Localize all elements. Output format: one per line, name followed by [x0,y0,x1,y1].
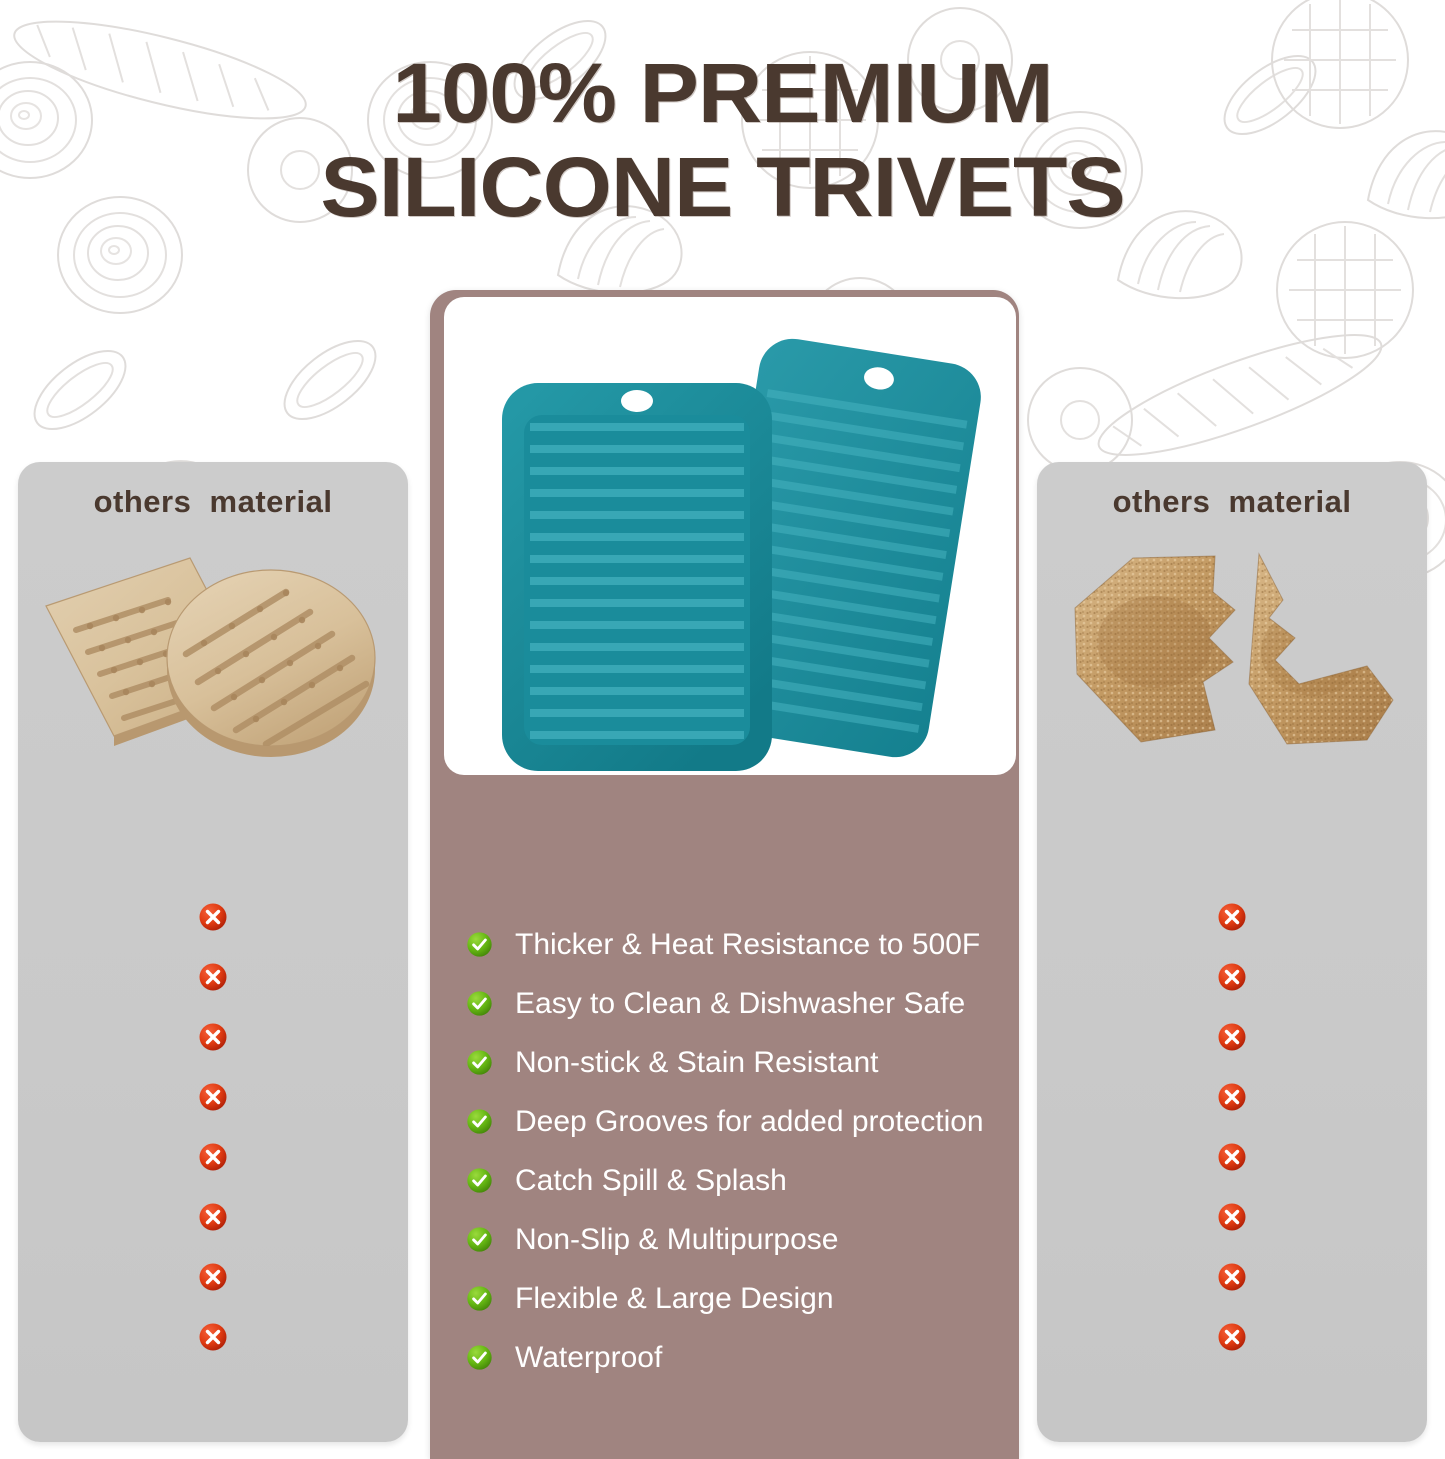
feature-label: Non-stick & Stain Resistant [515,1046,878,1080]
teal-silicone-trivets-photo [444,297,1016,775]
feature-row: Waterproof [466,1328,1011,1387]
feature-row: Non-stick & Stain Resistant [466,1033,1011,1092]
check-icon [466,1226,493,1253]
cross-icon [198,902,228,932]
feature-label: Thicker & Heat Resistance to 500F [515,928,980,962]
check-icon [466,1167,493,1194]
cross-icon [198,1142,228,1172]
feature-row: Catch Spill & Splash [466,1151,1011,1210]
cross-icon [1217,1082,1247,1112]
cross-mark-column-left [18,902,408,1352]
cross-mark-column-right [1037,902,1427,1352]
cross-icon [1217,1142,1247,1172]
cross-icon [198,1082,228,1112]
feature-label: Non-Slip & Multipurpose [515,1223,838,1257]
others-material-panel-left: others material [18,462,408,1442]
product-image-card [444,297,1016,775]
feature-label: Easy to Clean & Dishwasher Safe [515,987,965,1021]
cross-icon [198,1262,228,1292]
page-title: 100% PREMIUM SILICONE TRIVETS [0,46,1445,234]
cross-icon [198,1202,228,1232]
feature-row: Deep Grooves for added protection [466,1092,1011,1151]
check-icon [466,990,493,1017]
cross-icon [1217,1202,1247,1232]
cross-icon [198,1022,228,1052]
check-icon [466,1285,493,1312]
product-highlight-panel: Thicker & Heat Resistance to 500F Easy t… [430,290,1019,1459]
cross-icon [1217,1322,1247,1352]
panel-title-left: others material [18,484,408,520]
feature-label: Catch Spill & Splash [515,1164,787,1198]
title-line-2: SILICONE TRIVETS [0,140,1445,234]
cross-icon [1217,1022,1247,1052]
others-material-panel-right: others material [1037,462,1427,1442]
panel-title-right: others material [1037,484,1427,520]
feature-label: Waterproof [515,1341,662,1375]
feature-label: Flexible & Large Design [515,1282,834,1316]
check-icon [466,1108,493,1135]
title-line-1: 100% PREMIUM [0,46,1445,140]
feature-list: Thicker & Heat Resistance to 500F Easy t… [466,915,1011,1387]
cross-icon [198,962,228,992]
feature-label: Deep Grooves for added protection [515,1105,984,1139]
cross-icon [1217,902,1247,932]
feature-row: Thicker & Heat Resistance to 500F [466,915,1011,974]
broken-cork-coaster-photo [1037,534,1427,764]
feature-row: Non-Slip & Multipurpose [466,1210,1011,1269]
cross-icon [198,1322,228,1352]
cross-icon [1217,962,1247,992]
check-icon [466,931,493,958]
feature-row: Flexible & Large Design [466,1269,1011,1328]
feature-row: Easy to Clean & Dishwasher Safe [466,974,1011,1033]
bamboo-trivet-photo [18,534,408,764]
cross-icon [1217,1262,1247,1292]
check-icon [466,1344,493,1371]
check-icon [466,1049,493,1076]
